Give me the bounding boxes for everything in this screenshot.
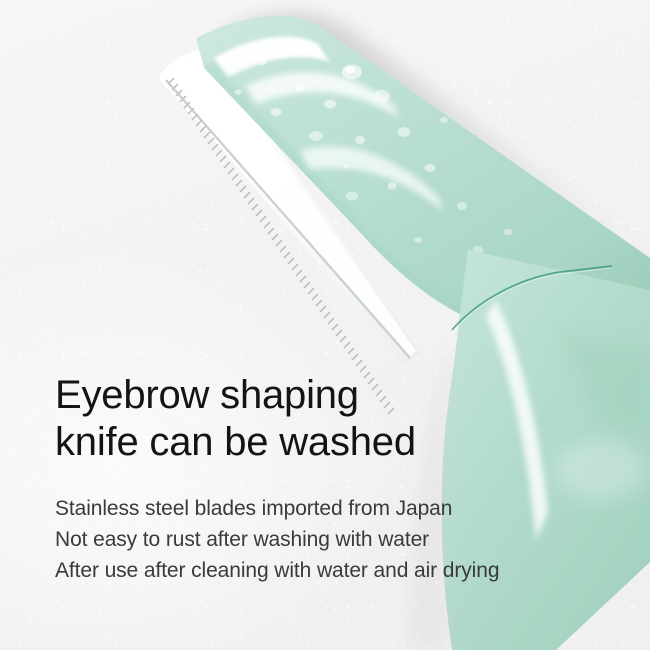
page-title: Eyebrow shaping knife can be washed [55,372,615,466]
copy-block: Eyebrow shaping knife can be washed Stai… [55,372,615,586]
feature-item: Not easy to rust after washing with wate… [55,524,615,555]
feature-item: After use after cleaning with water and … [55,555,615,586]
product-banner: Eyebrow shaping knife can be washed Stai… [0,0,650,650]
feature-item: Stainless steel blades imported from Jap… [55,493,615,524]
feature-list: Stainless steel blades imported from Jap… [55,493,615,586]
